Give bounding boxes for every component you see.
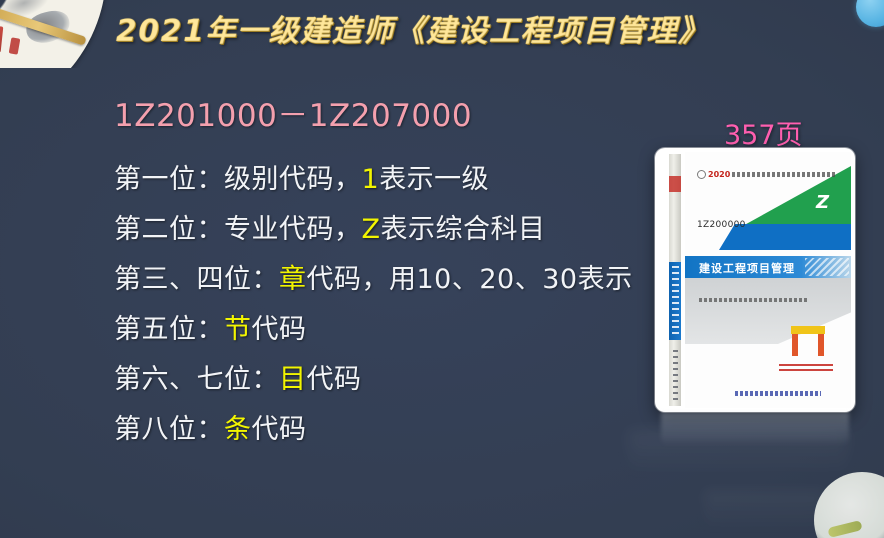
line-suffix: 代码 [252,414,307,445]
fan-gold-rib [0,3,87,46]
book-code-label: 1Z200000 [697,220,746,230]
page-count-label: 357页 [724,113,803,152]
line-highlight: 目 [279,364,307,395]
book-front-face: Z 2020 1Z200000 建设工程项目管理 [685,152,851,408]
list-item: 第六、七位：目代码 [114,355,674,405]
line-highlight: 章 [279,264,307,295]
book-logo-caption [779,364,833,374]
list-item: 第一位：级别代码，1表示一级 [114,155,674,205]
book-publisher-logo-icon [791,326,825,356]
book-header-line: 2020 [697,170,835,179]
book-spine [669,154,681,406]
book-title: 建设工程项目管理 [699,260,795,276]
line-suffix: 表示一级 [379,164,489,195]
line-suffix: 代码，用10、20、30表示 [307,264,633,295]
line-highlight: 条 [224,414,252,445]
line-prefix: 第三、四位： [114,264,279,295]
list-item: 第五位：节代码 [114,305,674,355]
book-spine-publisher-text [673,350,678,400]
line-prefix: 第二位：专业代码， [114,214,362,245]
fan-red-seal [0,25,3,52]
line-prefix: 第八位： [114,414,224,445]
line-highlight: 1 [362,164,380,195]
book-author-note [699,298,809,302]
background-glow-right [704,490,824,532]
logo-right-leg [818,334,824,356]
chinese-fan-icon: 书 [0,0,116,68]
fan-ink-wash-lower [23,8,72,46]
line-prefix: 第五位： [114,314,224,345]
fan-body [0,0,116,68]
white-blossom-icon [814,472,884,538]
fan-ink-wash-upper [0,0,53,24]
book-z-mark: Z [816,192,829,213]
line-highlight: 节 [224,314,252,345]
list-item: 第八位：条代码 [114,405,674,455]
logo-left-leg [792,334,798,356]
page-title: 2021年一级建造师《建设工程项目管理》 [116,6,710,50]
blossom-leaf [827,520,862,538]
book-spine-red-mark [669,176,681,192]
slide-canvas: 书 2021年一级建造师《建设工程项目管理》 1Z201000－1Z207000… [0,0,884,538]
line-suffix: 代码 [252,314,307,345]
fan-red-seal-secondary [9,37,21,54]
logo-top-bar [791,326,825,334]
book-header-note [732,172,835,177]
blue-bubble-icon [856,0,884,27]
book-reflection [661,412,849,446]
book-header-emblem-icon [697,170,706,179]
book-grey-panel [685,278,851,344]
line-highlight: Z [362,214,381,245]
content-lines: 第一位：级别代码，1表示一级 第二位：专业代码，Z表示综合科目 第三、四位：章代… [114,155,674,455]
line-suffix: 表示综合科目 [381,214,546,245]
line-prefix: 第一位：级别代码， [114,164,362,195]
list-item: 第二位：专业代码，Z表示综合科目 [114,205,674,255]
book-publisher-name [735,391,821,396]
code-range-heading: 1Z201000－1Z207000 [114,90,472,135]
book-spine-title-text [672,266,679,336]
book-year-label: 2020 [708,170,730,179]
book-title-bar: 建设工程项目管理 [685,256,851,278]
book-title-hatch-pattern [805,258,849,276]
line-prefix: 第六、七位： [114,364,279,395]
line-suffix: 代码 [307,364,362,395]
textbook-cover-image: Z 2020 1Z200000 建设工程项目管理 [655,148,855,412]
list-item: 第三、四位：章代码，用10、20、30表示 [114,255,674,305]
